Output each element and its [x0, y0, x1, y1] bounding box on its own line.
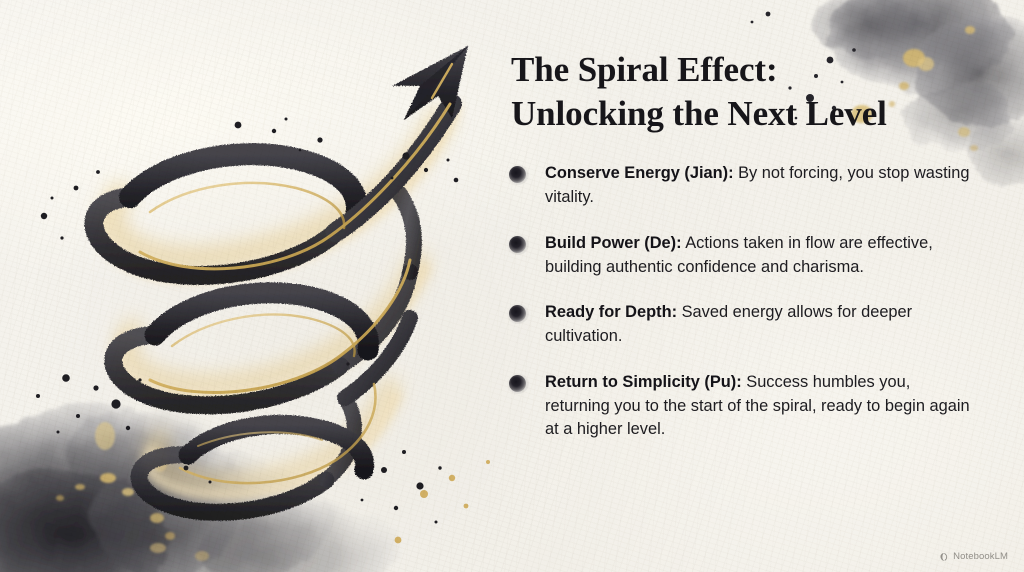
spiral-illustration [0, 0, 500, 572]
list-item: Return to Simplicity (Pu): Success humbl… [505, 371, 975, 442]
ink-blot-bullet-icon [509, 166, 526, 183]
gold-splatter [395, 460, 490, 543]
page-title: The Spiral Effect: Unlocking the Next Le… [511, 48, 975, 136]
bullet-lead: Build Power (De): [545, 234, 682, 252]
list-item: Conserve Energy (Jian): By not forcing, … [505, 162, 975, 210]
list-item: Ready for Depth: Saved energy allows for… [505, 301, 975, 349]
ink-blot-bullet-icon [509, 375, 526, 392]
content-column: The Spiral Effect: Unlocking the Next Le… [505, 48, 975, 442]
watermark-label: NotebookLM [953, 551, 1008, 562]
slide-canvas: The Spiral Effect: Unlocking the Next Le… [0, 0, 1024, 572]
notebooklm-watermark: NotebookLM [939, 551, 1008, 562]
ink-blot-bullet-icon [509, 236, 526, 253]
bullet-lead: Return to Simplicity (Pu): [545, 373, 742, 391]
bullet-lead: Ready for Depth: [545, 303, 677, 321]
notebooklm-logo-icon [939, 552, 949, 562]
ink-blot-bullet-icon [509, 305, 526, 322]
bullet-list: Conserve Energy (Jian): By not forcing, … [505, 162, 975, 442]
list-item: Build Power (De): Actions taken in flow … [505, 232, 975, 280]
bullet-lead: Conserve Energy (Jian): [545, 164, 734, 182]
